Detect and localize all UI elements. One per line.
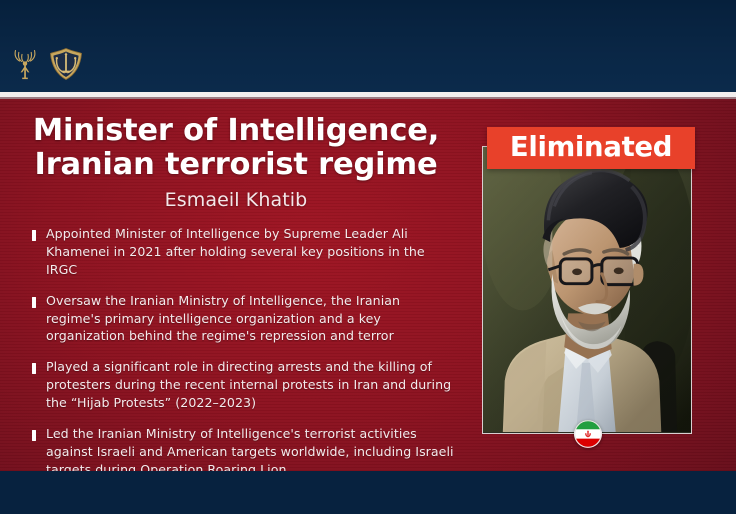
list-item-text: Oversaw the Iranian Ministry of Intellig… [46,292,456,346]
list-item: Led the Iranian Ministry of Intelligence… [26,425,456,471]
photo-frame [482,146,692,434]
page-title-line-1: Minister of Intelligence, [26,114,446,148]
subject-portrait-image [483,147,691,432]
subject-name: Esmaeil Khatib [26,189,446,211]
header-bar [0,0,736,92]
list-item-text: Played a significant role in directing a… [46,358,456,412]
list-item: Appointed Minister of Intelligence by Su… [26,225,456,279]
list-item: Oversaw the Iranian Ministry of Intellig… [26,292,456,346]
bullet-marker-icon [32,230,36,241]
list-item: Played a significant role in directing a… [26,358,456,412]
status-badge: Eliminated [487,127,695,169]
list-item-text: Led the Iranian Ministry of Intelligence… [46,425,456,471]
footer-band [0,471,736,514]
page-title: Minister of Intelligence, Iranian terror… [26,114,446,183]
iran-flag-badge [574,420,602,448]
title-block: Minister of Intelligence, Iranian terror… [26,114,446,211]
status-badge-label: Eliminated [510,134,672,162]
page-title-line-2: Iranian terrorist regime [26,148,446,182]
bullet-list: Appointed Minister of Intelligence by Su… [26,225,456,471]
idf-broadcast-antenna-icon [10,47,40,81]
subject-photo-card: Eliminated [482,146,692,434]
bullet-marker-icon [32,430,36,441]
idf-emblem-icon [48,47,84,81]
bullet-marker-icon [32,363,36,374]
list-item-text: Appointed Minister of Intelligence by Su… [46,225,456,279]
iran-flag-icon [574,420,602,448]
header-logo-group [10,47,84,81]
bullet-marker-icon [32,297,36,308]
main-stage: Minister of Intelligence, Iranian terror… [0,99,736,471]
slide-root: Minister of Intelligence, Iranian terror… [0,0,736,514]
